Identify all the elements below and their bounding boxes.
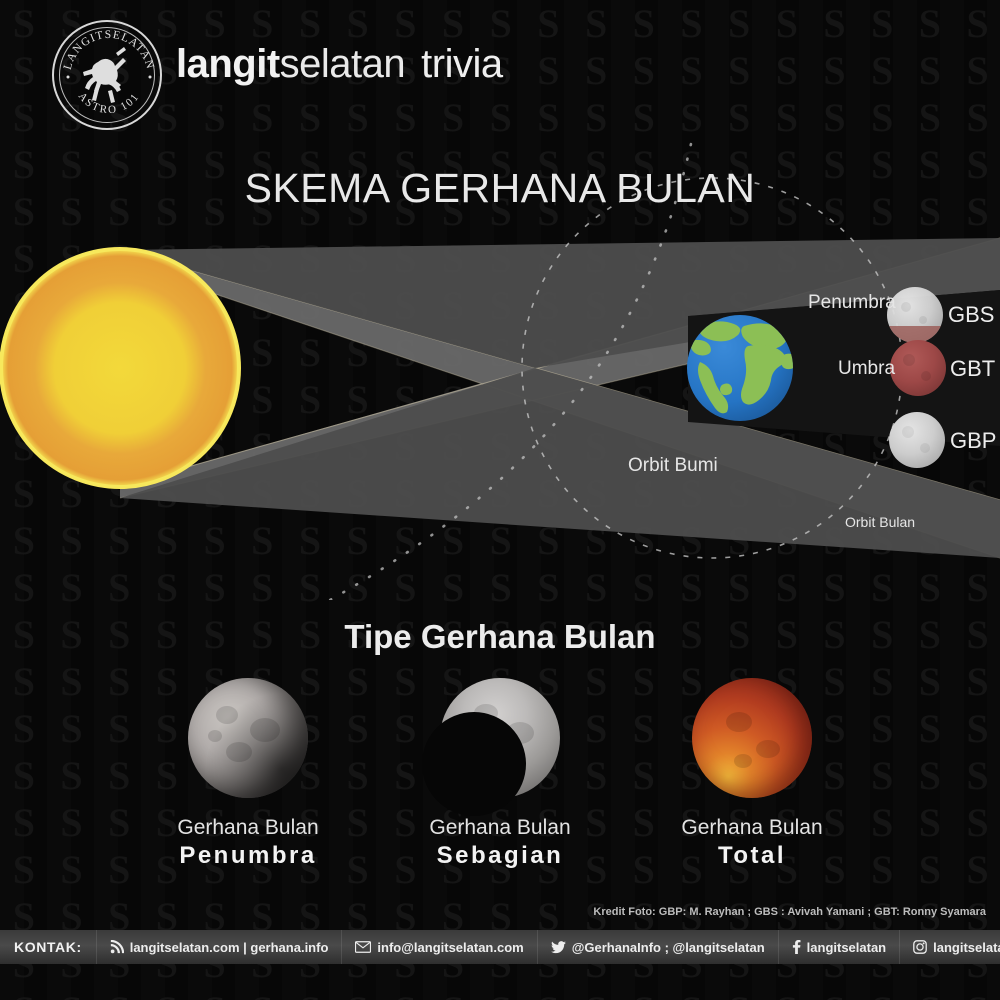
type-label-line1: Gerhana Bulan <box>370 816 630 840</box>
moon-total-red-icon <box>890 340 946 396</box>
label-gbs: GBS <box>948 302 994 328</box>
header: LANGITSELATAN ASTRO 101 langitselatant <box>0 0 1000 140</box>
crater <box>726 712 752 732</box>
type-label-line2: Sebagian <box>370 842 630 870</box>
footer-instagram-text: langitselatanmedia <box>933 940 1000 955</box>
moon-disc <box>692 678 812 798</box>
contact-footer-bar: KONTAK: langitselatan.com | gerhana.info… <box>0 930 1000 964</box>
diagram-title: SKEMA GERHANA BULAN <box>0 165 1000 212</box>
instagram-icon <box>913 940 927 954</box>
footer-item-instagram[interactable]: langitselatanmedia <box>899 930 1000 964</box>
moon-penumbral-icon <box>889 412 945 468</box>
brand-trivia: trivia <box>421 42 502 86</box>
type-label-line2: Penumbra <box>118 842 378 870</box>
eclipse-types-section: Tipe Gerhana Bulan Gerhana Bulan Penumbr… <box>0 600 1000 900</box>
photo-credit-line: Kredit Foto: GBP: M. Rayhan ; GBS : Aviv… <box>593 906 986 918</box>
type-card-penumbra: Gerhana Bulan Penumbra <box>118 678 378 870</box>
moon-total-photo <box>692 678 812 798</box>
footer-website-text: langitselatan.com | gerhana.info <box>130 940 329 955</box>
crater <box>734 754 752 768</box>
type-card-total: Gerhana Bulan Total <box>622 678 882 870</box>
moon-partial-photo <box>440 678 560 798</box>
crater <box>208 730 222 742</box>
crater <box>250 718 280 742</box>
label-gbp: GBP <box>950 428 996 454</box>
footer-item-twitter[interactable]: @GerhanaInfo ; @langitselatan <box>537 930 778 964</box>
moon-penumbral-photo <box>188 678 308 798</box>
crater <box>226 742 252 762</box>
kontak-label: KONTAK: <box>0 939 96 955</box>
sagittarius-centaur-icon <box>83 47 126 103</box>
label-penumbra: Penumbra <box>808 292 896 314</box>
twitter-icon <box>551 941 566 954</box>
type-label-line1: Gerhana Bulan <box>118 816 378 840</box>
footer-email-text: info@langitselatan.com <box>377 940 523 955</box>
brand-langit: langit <box>176 42 280 86</box>
crater <box>216 706 238 724</box>
langitselatan-logo-badge: LANGITSELATAN ASTRO 101 <box>52 20 162 130</box>
label-orbit-bumi: Orbit Bumi <box>628 455 718 477</box>
footer-item-email[interactable]: info@langitselatan.com <box>341 930 536 964</box>
footer-item-facebook[interactable]: langitselatan <box>778 930 899 964</box>
facebook-icon <box>792 940 801 954</box>
footer-twitter-text: @GerhanaInfo ; @langitselatan <box>572 940 765 955</box>
footer-item-website[interactable]: langitselatan.com | gerhana.info <box>96 930 342 964</box>
brand-wordmark: langitselatantrivia <box>176 42 503 87</box>
crater <box>756 740 780 758</box>
moon-disc <box>188 678 308 798</box>
infographic-canvas: SSSSSSSSSSSSSSSSSSSSSSSSSSSSSSSSSSSSSSSS… <box>0 0 1000 1000</box>
types-title: Tipe Gerhana Bulan <box>0 618 1000 656</box>
type-label-line2: Total <box>622 842 882 870</box>
logo-artwork: LANGITSELATAN ASTRO 101 <box>54 22 164 132</box>
eclipse-scheme-diagram: SKEMA GERHANA BULAN Penumbra Umbra GBS G… <box>0 140 1000 600</box>
footer-facebook-text: langitselatan <box>807 940 886 955</box>
envelope-icon <box>355 941 371 953</box>
eclipse-shadow-bite <box>422 712 526 816</box>
label-orbit-bulan: Orbit Bulan <box>845 514 915 530</box>
type-label-line1: Gerhana Bulan <box>622 816 882 840</box>
rss-icon <box>110 940 124 954</box>
brand-selatan: selatan <box>280 42 405 86</box>
label-umbra: Umbra <box>838 358 895 380</box>
sun-icon <box>1 249 239 487</box>
label-gbt: GBT <box>950 356 995 382</box>
type-card-sebagian: Gerhana Bulan Sebagian <box>370 678 630 870</box>
